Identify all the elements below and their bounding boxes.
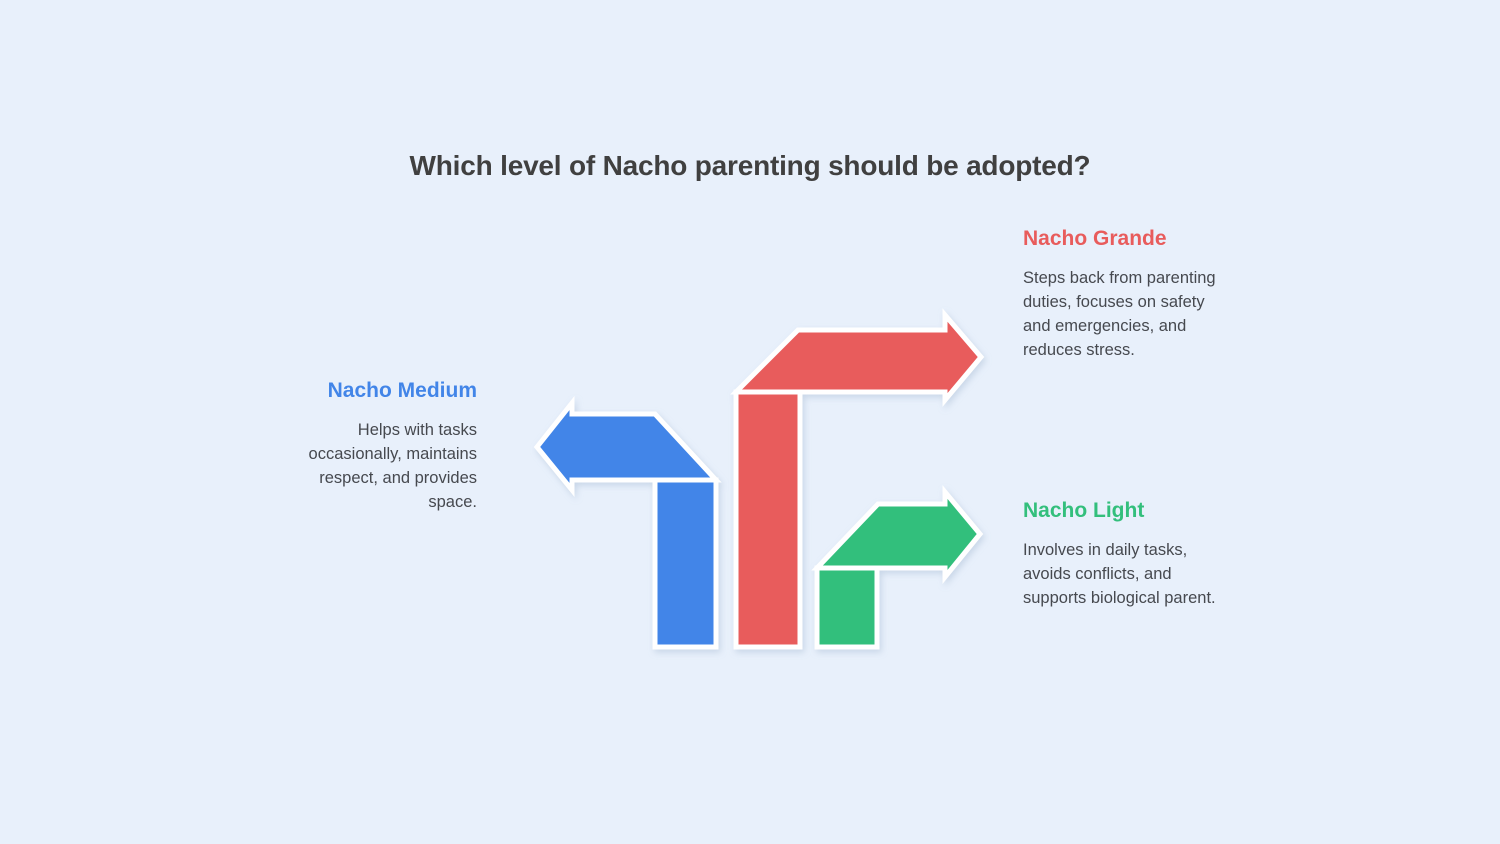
nacho-parenting-arrow-diagram (0, 0, 1500, 844)
bar-nacho-medium[interactable] (655, 480, 716, 647)
callout-title-nacho-grande: Nacho Grande (1023, 226, 1233, 251)
arrow-right-nacho-grande[interactable] (736, 315, 981, 400)
arrow-right-nacho-light[interactable] (817, 492, 980, 577)
callout-nacho-grande: Nacho Grande Steps back from parenting d… (1023, 226, 1233, 363)
callout-nacho-light: Nacho Light Involves in daily tasks, avo… (1023, 498, 1233, 611)
bar-group-nacho-medium[interactable] (537, 403, 716, 647)
callout-body-nacho-medium: Helps with tasks occasionally, maintains… (285, 419, 477, 515)
callout-body-nacho-grande: Steps back from parenting duties, focuse… (1023, 267, 1233, 363)
diagram-canvas: Which level of Nacho parenting should be… (0, 0, 1500, 844)
bar-nacho-grande[interactable] (736, 392, 800, 647)
callout-body-nacho-light: Involves in daily tasks, avoids conflict… (1023, 539, 1233, 611)
callout-title-nacho-light: Nacho Light (1023, 498, 1233, 523)
arrow-left-nacho-medium[interactable] (537, 403, 716, 490)
bar-nacho-light[interactable] (817, 568, 877, 647)
bar-group-nacho-light[interactable] (817, 492, 980, 647)
callout-title-nacho-medium: Nacho Medium (285, 378, 477, 403)
callout-nacho-medium: Nacho Medium Helps with tasks occasional… (285, 378, 477, 515)
